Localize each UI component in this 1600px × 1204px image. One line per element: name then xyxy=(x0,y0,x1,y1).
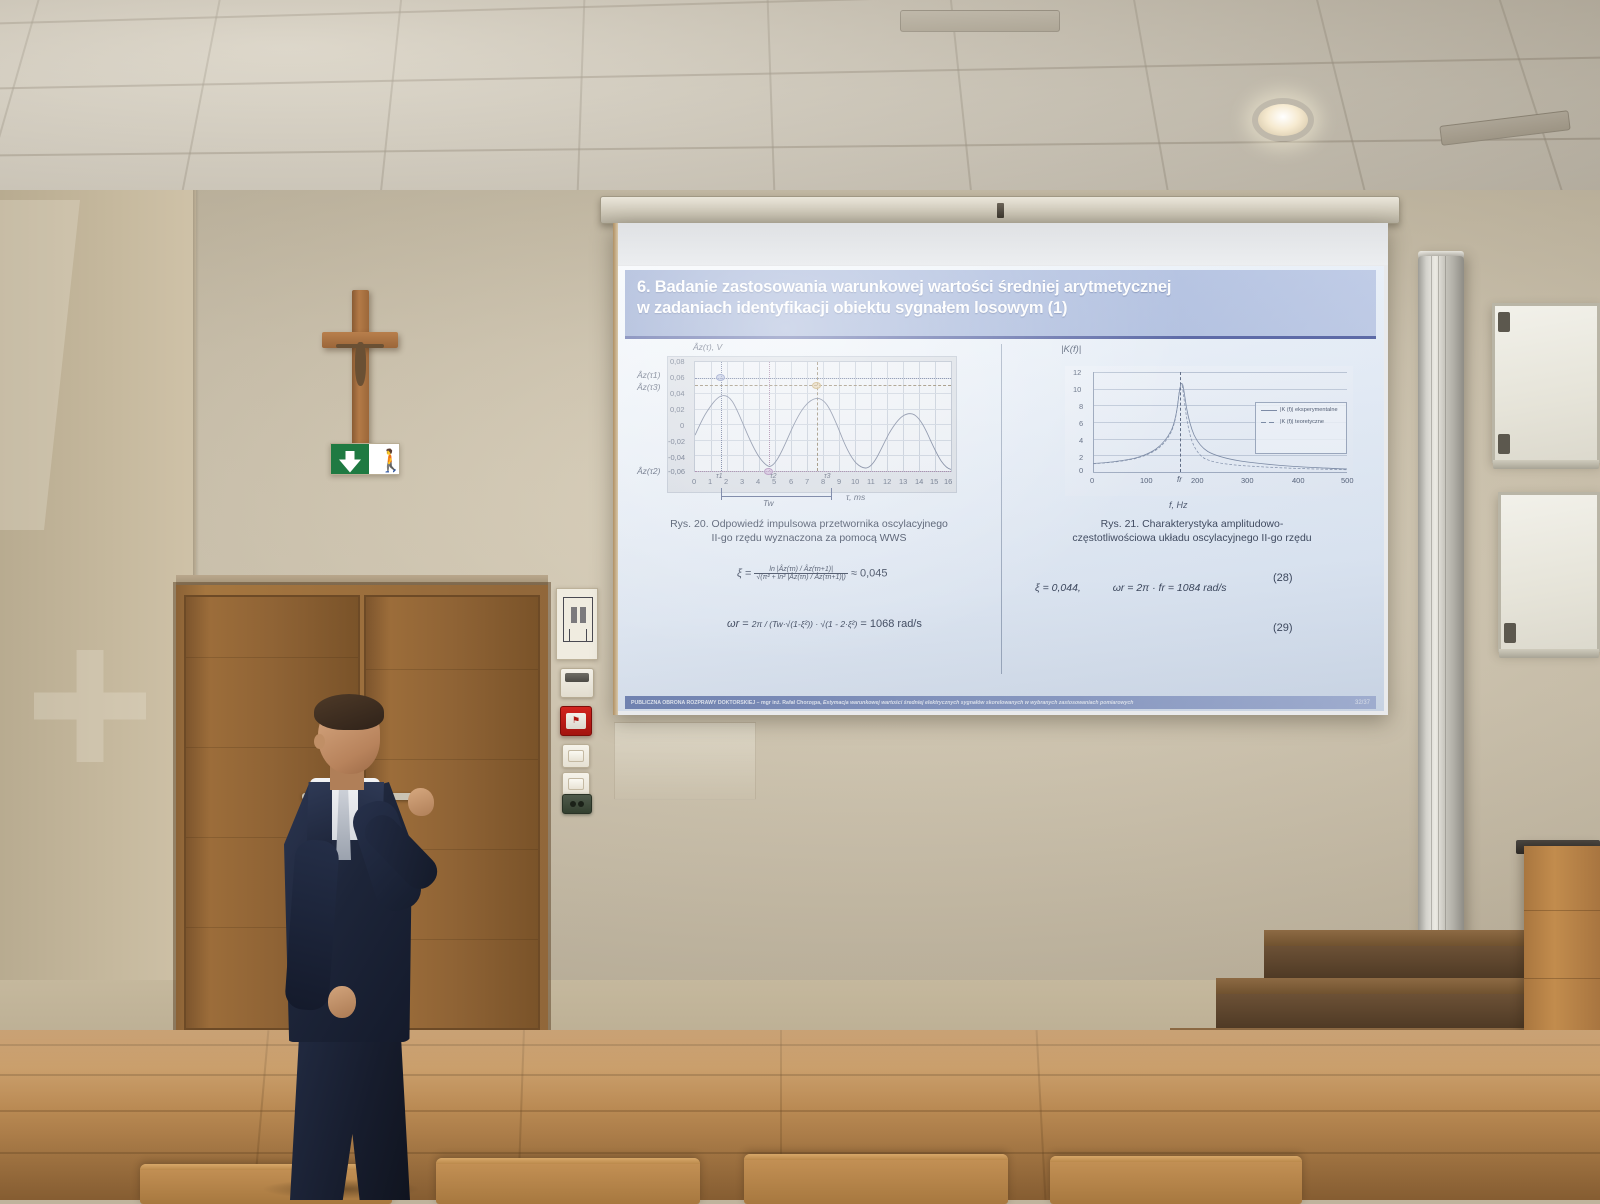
equation-28: ξ = ln |Âz(τn) / Âz(τn+1)| √(π² + ln² |Â… xyxy=(737,566,888,581)
chart20-tw-span xyxy=(722,496,832,497)
caption-rys-20: Rys. 20. Odpowiedź impulsowa przetwornik… xyxy=(631,518,987,546)
chart20-ytick-7: -0,06 xyxy=(668,467,685,476)
chart21-legend: |K (f)| eksperymentalne |K (f)| teoretyc… xyxy=(1255,402,1347,454)
chart21-xtick-300: 300 xyxy=(1241,476,1254,485)
whiteboard-lower xyxy=(1498,492,1600,652)
slide-title-line1: 6. Badanie zastosowania warunkowej warto… xyxy=(637,277,1366,298)
chart20-xtick-6: 6 xyxy=(789,477,793,486)
projector-screen-case[interactable] xyxy=(600,196,1400,224)
footer-text: PUBLICZNA OBRONA ROZPRAWY DOKTORSKIEJ – … xyxy=(631,700,1133,706)
chart-rys-21: |K(f)| xyxy=(1009,342,1377,518)
emergency-exit-sign: 🚶 xyxy=(330,443,400,475)
eq28-numerator: ln |Âz(τn) / Âz(τn+1)| xyxy=(754,566,847,574)
light-switch-upper[interactable] xyxy=(562,744,590,768)
chart20-xann-tau1: τ1 xyxy=(716,473,723,480)
chart21-ytick-4: 4 xyxy=(1079,436,1083,445)
room-thermostat[interactable] xyxy=(560,668,594,698)
legend-item-experimental: |K (f)| eksperymentalne xyxy=(1261,407,1342,414)
eq29-expression: 2π / (Tw·√(1-ξ²)) · √(1 - 2·ξ²) xyxy=(752,619,858,629)
chart21-plot: 12 10 8 6 4 2 0 0 100 200 300 400 500 fr xyxy=(1065,366,1353,496)
legend-swatch-dashed xyxy=(1261,420,1277,426)
title-underline xyxy=(625,336,1376,339)
chart21-ytick-10: 10 xyxy=(1073,385,1081,394)
lecture-hall-scene: 🚶 ⚑ xyxy=(0,0,1600,1200)
footer-page-number: 32/37 xyxy=(1355,700,1370,706)
chart20-ytick-6: -0,04 xyxy=(668,453,685,462)
chart21-ytick-12: 12 xyxy=(1073,368,1081,377)
chart21-ylabel: |K(f)| xyxy=(1061,344,1081,355)
wall-access-panel xyxy=(614,722,756,800)
presentation-slide: 6. Badanie zastosowania warunkowej warto… xyxy=(617,266,1384,711)
chart20-ytick-1: 0,06 xyxy=(670,373,685,382)
eq29-result: = 1068 rad/s xyxy=(860,618,921,630)
chart20-xtick-13: 13 xyxy=(899,477,907,486)
chart21-xtick-100: 100 xyxy=(1140,476,1153,485)
eq29-symbol: ωr xyxy=(727,618,739,630)
equation-29: ωr = 2π / (Tw·√(1-ξ²)) · √(1 - 2·ξ²) = 1… xyxy=(727,618,922,630)
screen-blank-margin xyxy=(613,223,1388,265)
fire-alarm-call-point[interactable]: ⚑ xyxy=(560,706,592,736)
chart21-xtick-0: 0 xyxy=(1090,476,1094,485)
chart20-xann-tau3: τ3 xyxy=(824,473,831,480)
crucifix xyxy=(322,290,398,460)
presenter xyxy=(232,690,462,1200)
chart20-xtick-0: 0 xyxy=(692,477,696,486)
chart20-xtick-11: 11 xyxy=(867,477,875,486)
audience-chair-2[interactable] xyxy=(436,1158,700,1204)
caption-20-line1: Rys. 20. Odpowiedź impulsowa przetwornik… xyxy=(631,518,987,532)
chart21-xlabel: f, Hz xyxy=(1169,500,1188,510)
caption-rys-21: Rys. 21. Charakterystyka amplitudowo- cz… xyxy=(1009,518,1375,546)
eq28-result: ≈ 0,045 xyxy=(851,567,888,579)
right-damping: ξ = 0,044, xyxy=(1035,582,1081,594)
chart20-plot: 0,08 0,06 0,04 0,02 0 -0,02 -0,04 -0,06 … xyxy=(667,356,957,493)
chart20-xtick-1: 1 xyxy=(708,477,712,486)
cable-column xyxy=(1418,256,1464,976)
chart21-ytick-6: 6 xyxy=(1079,419,1083,428)
eq28-symbol: ξ xyxy=(737,567,742,579)
evacuation-plan-board xyxy=(556,588,598,660)
left-wall-panel xyxy=(0,190,196,1090)
chart-rys-20: Âz(τ), V xyxy=(631,342,981,512)
chart20-xtick-7: 7 xyxy=(805,477,809,486)
chart20-xtick-12: 12 xyxy=(883,477,891,486)
chart20-xtick-2: 2 xyxy=(724,477,728,486)
chart20-ann-A3: Âz(τ3) xyxy=(637,382,661,392)
legend-label-theoretical: |K (f)| teoretyczne xyxy=(1280,419,1324,426)
chart20-xtick-4: 4 xyxy=(756,477,760,486)
slide-title: 6. Badanie zastosowania warunkowej warto… xyxy=(625,270,1376,336)
chart20-xtick-10: 10 xyxy=(851,477,859,486)
equation-29-number: (29) xyxy=(1273,622,1293,634)
audience-chair-4[interactable] xyxy=(1050,1156,1302,1204)
chart21-fr-label: fr xyxy=(1177,475,1182,484)
caption-20-line2: II-go rzędu wyznaczona za pomocą WWS xyxy=(631,532,987,546)
chart20-ylabel: Âz(τ), V xyxy=(693,342,722,352)
chart21-xtick-500: 500 xyxy=(1341,476,1354,485)
chart20-xann-tau2: τ2 xyxy=(770,473,777,480)
chart20-ytick-4: 0 xyxy=(680,421,684,430)
chart20-xtick-16: 16 xyxy=(944,477,952,486)
column-divider xyxy=(1001,344,1002,674)
chart21-ytick-8: 8 xyxy=(1079,402,1083,411)
caption-21-line1: Rys. 21. Charakterystyka amplitudowo- xyxy=(1009,518,1375,532)
screen-left-edge xyxy=(613,223,618,715)
legend-swatch-solid xyxy=(1261,408,1277,414)
chart20-ann-A2: Âz(τ2) xyxy=(637,466,661,476)
chart20-xtick-14: 14 xyxy=(915,477,923,486)
chart20-ytick-2: 0,04 xyxy=(670,389,685,398)
chart21-ytick-0: 0 xyxy=(1079,466,1083,475)
chart20-ytick-3: 0,02 xyxy=(670,405,685,414)
legend-item-theoretical: |K (f)| teoretyczne xyxy=(1261,419,1342,426)
chart20-plot-area xyxy=(694,361,952,472)
whiteboard-upper xyxy=(1492,303,1600,463)
chart20-xtick-9: 9 xyxy=(837,477,841,486)
lectern-desk xyxy=(1524,846,1600,1046)
right-values: ξ = 0,044, ωr = 2π · fr = 1084 rad/s xyxy=(1035,582,1227,594)
projection-screen: 6. Badanie zastosowania warunkowej warto… xyxy=(613,223,1388,715)
light-switch-lower[interactable] xyxy=(562,772,590,796)
chart20-tw-label: Tw xyxy=(763,498,774,508)
chart20-ytick-5: -0,02 xyxy=(668,437,685,446)
audience-chair-3[interactable] xyxy=(744,1154,1008,1204)
power-outlet[interactable] xyxy=(562,794,592,814)
equation-28-number: (28) xyxy=(1273,572,1293,584)
legend-label-experimental: |K (f)| eksperymentalne xyxy=(1280,407,1338,414)
chart21-xtick-400: 400 xyxy=(1292,476,1305,485)
eq28-denominator: √(π² + ln² |Âz(τn) / Âz(τn+1)|) xyxy=(754,574,847,581)
footer-plain: PUBLICZNA OBRONA ROZPRAWY DOKTORSKIEJ – … xyxy=(631,700,822,706)
footer-italic: Estymacja warunkowej wartości średniej e… xyxy=(823,700,1134,706)
ceiling-downlight xyxy=(1252,98,1314,142)
caption-21-line2: częstotliwościowa układu oscylacyjnego I… xyxy=(1009,532,1375,546)
chart20-xtick-15: 15 xyxy=(930,477,938,486)
chart20-xlabel: τ, ms xyxy=(846,492,865,502)
chart21-ytick-2: 2 xyxy=(1079,453,1083,462)
screen-case-latch xyxy=(997,203,1004,218)
chart20-marker-tau3 xyxy=(812,382,821,389)
chart21-xtick-200: 200 xyxy=(1191,476,1204,485)
chart20-series-curve xyxy=(695,362,951,471)
right-omega: ωr = 2π · fr = 1084 rad/s xyxy=(1113,582,1227,594)
chart20-xtick-3: 3 xyxy=(740,477,744,486)
chart20-ytick-0: 0,08 xyxy=(670,357,685,366)
chart20-ann-A1: Âz(τ1) xyxy=(637,370,661,380)
slide-footer: PUBLICZNA OBRONA ROZPRAWY DOKTORSKIEJ – … xyxy=(625,696,1376,709)
slide-title-line2: w zadaniach identyfikacji obiektu sygnał… xyxy=(637,298,1366,319)
